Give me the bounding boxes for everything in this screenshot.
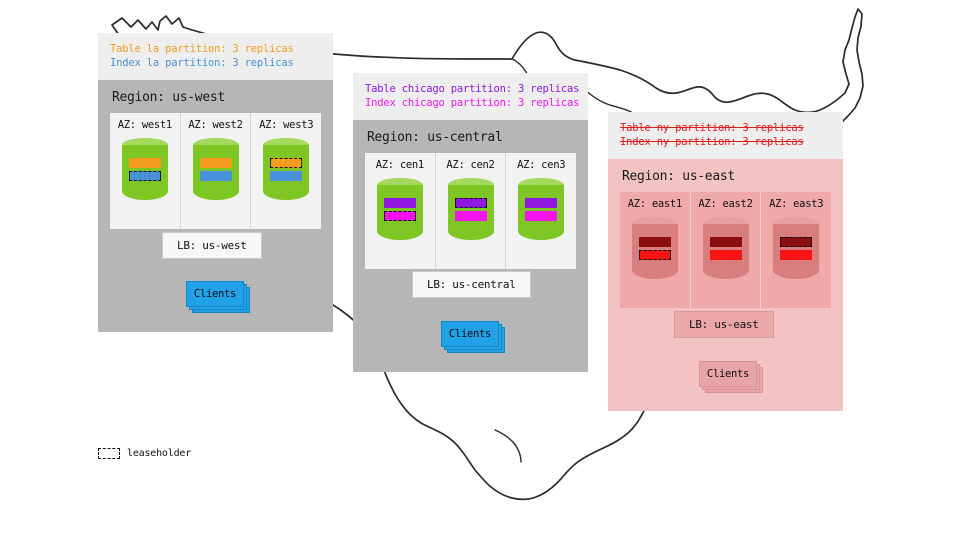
legend-label: leaseholder — [127, 448, 191, 459]
node-cylinder-cen3[interactable] — [518, 178, 564, 240]
az-cell-east2[interactable]: AZ: east2 — [690, 192, 761, 308]
node-cylinder-west2[interactable] — [193, 138, 239, 200]
partition-line-index-chicago: Index chicago partition: 3 replicas — [365, 96, 576, 110]
replica-bands — [773, 237, 819, 260]
partition-line-index-la: Index la partition: 3 replicas — [110, 56, 321, 70]
load-balancer-us-central[interactable]: LB: us-central — [412, 271, 531, 298]
node-cylinder-cen2[interactable] — [448, 178, 494, 240]
table-replica-band-leaseholder — [455, 198, 487, 208]
legend: leaseholder — [98, 448, 191, 459]
partition-banner-us-west: Table la partition: 3 replicas Index la … — [98, 33, 333, 80]
replica-bands — [448, 198, 494, 221]
load-balancer-us-west[interactable]: LB: us-west — [162, 232, 262, 259]
clients-us-central[interactable]: Clients — [441, 321, 499, 347]
index-replica-band-leaseholder — [384, 211, 416, 221]
index-replica-band — [455, 211, 487, 221]
replica-bands — [263, 158, 309, 181]
clients-us-west[interactable]: Clients — [186, 281, 244, 307]
az-label-east1: AZ: east1 — [628, 198, 682, 210]
node-cylinder-east3[interactable] — [773, 217, 819, 279]
az-label-cen2: AZ: cen2 — [446, 159, 494, 171]
az-label-cen1: AZ: cen1 — [376, 159, 424, 171]
leaseholder-dashed-rect-icon — [98, 448, 120, 459]
az-cell-west3[interactable]: AZ: west3 — [250, 113, 321, 229]
clients-us-east[interactable]: Clients — [699, 361, 757, 387]
diagram-canvas: Table la partition: 3 replicas Index la … — [0, 0, 960, 540]
az-label-west1: AZ: west1 — [118, 119, 172, 131]
az-cell-east3[interactable]: AZ: east3 — [760, 192, 831, 308]
index-replica-band — [200, 171, 232, 181]
table-replica-band — [129, 158, 161, 168]
node-cylinder-east2[interactable] — [703, 217, 749, 279]
replica-bands — [377, 198, 423, 221]
clients-card-front: Clients — [441, 321, 499, 347]
table-replica-band-leaseholder — [270, 158, 302, 168]
table-replica-band — [525, 198, 557, 208]
partition-line-table-chicago: Table chicago partition: 3 replicas — [365, 82, 576, 96]
load-balancer-us-east[interactable]: LB: us-east — [674, 311, 774, 338]
replica-bands — [632, 237, 678, 260]
table-replica-band — [639, 237, 671, 247]
region-title-us-west: Region: us-west — [98, 80, 333, 113]
az-cell-west2[interactable]: AZ: west2 — [180, 113, 251, 229]
az-cell-west1[interactable]: AZ: west1 — [110, 113, 180, 229]
index-replica-band — [525, 211, 557, 221]
az-row-us-west: AZ: west1 AZ: west2 — [110, 113, 321, 229]
partition-banner-us-central: Table chicago partition: 3 replicas Inde… — [353, 73, 588, 120]
node-cylinder-cen1[interactable] — [377, 178, 423, 240]
node-cylinder-east1[interactable] — [632, 217, 678, 279]
table-replica-band — [384, 198, 416, 208]
az-row-us-central: AZ: cen1 AZ: cen2 — [365, 153, 576, 269]
az-label-west2: AZ: west2 — [188, 119, 242, 131]
replica-bands — [703, 237, 749, 260]
index-replica-band-leaseholder — [639, 250, 671, 260]
az-cell-east1[interactable]: AZ: east1 — [620, 192, 690, 308]
index-replica-band — [270, 171, 302, 181]
table-replica-band — [200, 158, 232, 168]
az-cell-cen2[interactable]: AZ: cen2 — [435, 153, 506, 269]
partition-banner-us-east: Table ny partition: 3 replicas Index ny … — [608, 112, 843, 159]
index-replica-band — [780, 250, 812, 260]
az-label-east2: AZ: east2 — [698, 198, 752, 210]
az-cell-cen3[interactable]: AZ: cen3 — [505, 153, 576, 269]
table-replica-band-leaseholder — [780, 237, 812, 247]
az-label-west3: AZ: west3 — [259, 119, 313, 131]
partition-line-index-ny: Index ny partition: 3 replicas — [620, 135, 831, 149]
index-replica-band-leaseholder — [129, 171, 161, 181]
region-title-us-east: Region: us-east — [608, 159, 843, 192]
partition-line-table-la: Table la partition: 3 replicas — [110, 42, 321, 56]
region-title-us-central: Region: us-central — [353, 120, 588, 153]
clients-card-front: Clients — [186, 281, 244, 307]
table-replica-band — [710, 237, 742, 247]
replica-bands — [122, 158, 168, 181]
node-cylinder-west1[interactable] — [122, 138, 168, 200]
index-replica-band — [710, 250, 742, 260]
az-label-cen3: AZ: cen3 — [517, 159, 565, 171]
replica-bands — [193, 158, 239, 181]
az-cell-cen1[interactable]: AZ: cen1 — [365, 153, 435, 269]
clients-card-front: Clients — [699, 361, 757, 387]
partition-line-table-ny: Table ny partition: 3 replicas — [620, 121, 831, 135]
az-row-us-east: AZ: east1 AZ: east2 — [620, 192, 831, 308]
replica-bands — [518, 198, 564, 221]
node-cylinder-west3[interactable] — [263, 138, 309, 200]
az-label-east3: AZ: east3 — [769, 198, 823, 210]
